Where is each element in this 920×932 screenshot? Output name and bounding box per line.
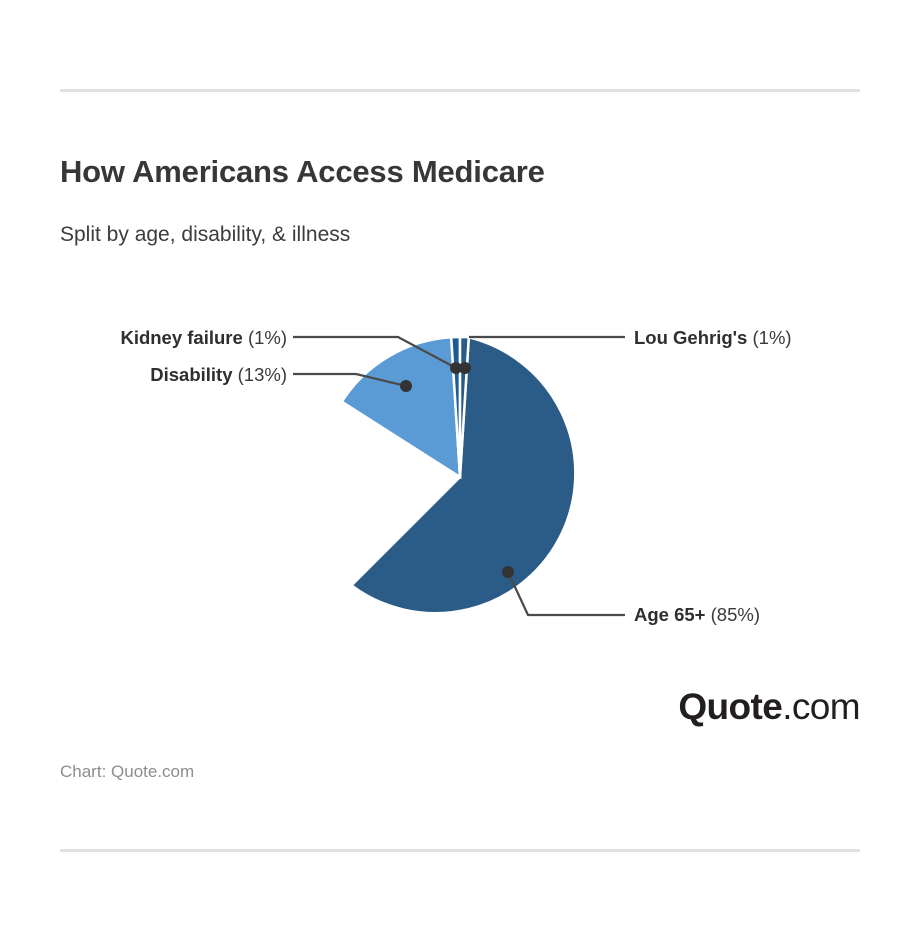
pie-label-lou-gehrigs[interactable]: Lou Gehrig's (1%) (634, 329, 792, 348)
divider-top (60, 89, 860, 92)
quote-com-logo: Quote.com (678, 686, 860, 728)
leader-dot-age-65-plus (502, 566, 514, 578)
divider-bottom (60, 849, 860, 852)
chart-credit: Chart: Quote.com (60, 762, 194, 782)
pie-label-disability-percent: (13%) (238, 364, 287, 385)
pie-label-disability-name: Disability (150, 364, 232, 385)
pie-label-age-65-plus-name: Age 65+ (634, 604, 705, 625)
pie-label-lou-gehrigs-name: Lou Gehrig's (634, 327, 747, 348)
pie-slice-disability[interactable] (342, 337, 460, 477)
pie-label-disability[interactable]: Disability (13%) (118, 366, 287, 385)
chart-title: How Americans Access Medicare (60, 155, 545, 189)
leader-dot-lou-gehrigs (459, 362, 471, 374)
pie-label-lou-gehrigs-percent: (1%) (753, 327, 792, 348)
pie-label-kidney-failure[interactable]: Kidney failure (1%) (82, 329, 287, 348)
pie-label-age-65-plus[interactable]: Age 65+ (85%) (634, 606, 760, 625)
chart-card: How Americans Access Medicare Split by a… (0, 0, 920, 932)
chart-subtitle: Split by age, disability, & illness (60, 222, 350, 247)
logo-tld: .com (782, 686, 860, 727)
pie-label-kidney-failure-name: Kidney failure (120, 327, 242, 348)
leader-dot-disability (400, 380, 412, 392)
pie-label-age-65-plus-percent: (85%) (711, 604, 760, 625)
logo-wordmark: Quote (678, 686, 782, 727)
pie-label-kidney-failure-percent: (1%) (248, 327, 287, 348)
